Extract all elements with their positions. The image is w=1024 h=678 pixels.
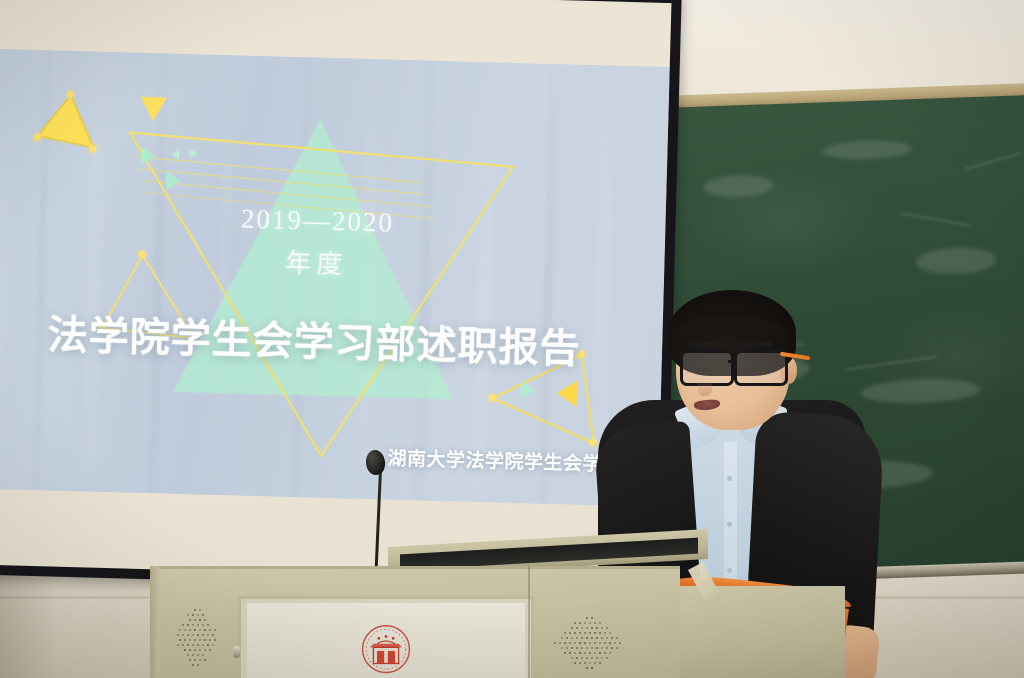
glasses-bridge — [728, 360, 736, 363]
tiny-mint-triangle — [189, 148, 197, 158]
lecture-scene: 2019—2020 年度 法学院学生会学习部述职报告 湖南大学法学院学生会学习部 — [0, 0, 1024, 678]
podium-panel-inner — [247, 603, 525, 678]
eyebrow-left — [690, 342, 720, 346]
shirt-button — [727, 522, 732, 527]
podium-body-right — [670, 586, 845, 678]
eyeglasses — [670, 350, 800, 384]
podium — [150, 560, 840, 678]
small-mint-triangle — [521, 381, 535, 399]
small-yellow-triangle — [140, 97, 167, 122]
tiny-mint-triangle — [171, 150, 179, 160]
speaker-grille-left — [172, 604, 224, 674]
projection-screen: 2019—2020 年度 法学院学生会学习部述职报告 湖南大学法学院学生会学习部 — [0, 0, 682, 593]
filled-yellow-triangle — [31, 90, 103, 167]
small-yellow-arrow — [557, 380, 578, 407]
projected-slide: 2019—2020 年度 法学院学生会学习部述职报告 湖南大学法学院学生会学习部 — [0, 48, 670, 507]
podium-front-panel — [238, 596, 534, 678]
hunan-university-seal-icon — [359, 620, 413, 674]
podium-lock[interactable] — [233, 646, 240, 658]
small-mint-triangle — [166, 172, 180, 190]
podium-left-edge — [150, 566, 159, 678]
shirt-button — [727, 476, 732, 481]
speaker-grille-right — [554, 612, 624, 678]
eyebrow-right — [742, 342, 772, 346]
nose — [698, 380, 712, 396]
small-mint-triangle — [141, 147, 155, 165]
screen-surface: 2019—2020 年度 法学院学生会学习部述职报告 湖南大学法学院学生会学习部 — [0, 0, 671, 583]
